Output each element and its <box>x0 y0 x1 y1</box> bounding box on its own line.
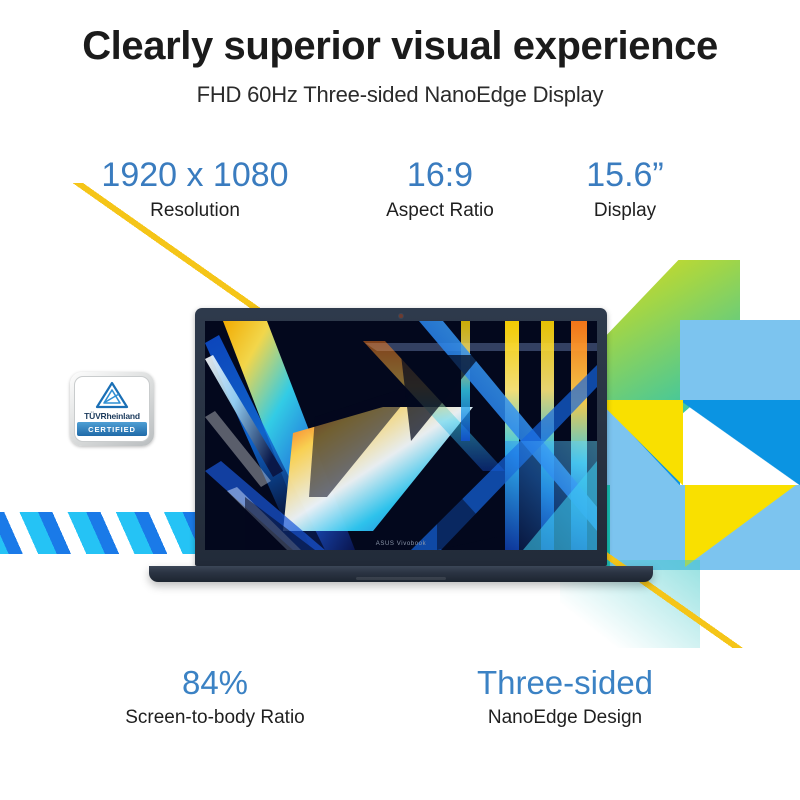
tuv-rheinland-certification-badge: TÜVRheinland CERTIFIED <box>70 372 154 446</box>
product-feature-banner: Clearly superior visual experience FHD 6… <box>0 0 800 800</box>
stat-screen-to-body: 84% Screen-to-body Ratio <box>90 666 340 729</box>
laptop-screen: ASUS Vivobook <box>205 321 597 550</box>
wallpaper-graphic <box>205 321 597 550</box>
cyan-stripes-decoration <box>0 512 220 554</box>
tuv-triangle-icon <box>95 381 129 414</box>
laptop-base <box>149 566 653 582</box>
stat-nanoedge-label: NanoEdge Design <box>440 707 690 729</box>
page-subtitle: FHD 60Hz Three-sided NanoEdge Display <box>0 82 800 108</box>
stat-nanoedge-value: Three-sided <box>440 666 690 701</box>
spec-display-size-value: 15.6” <box>560 158 690 194</box>
spec-aspect-ratio: 16:9 Aspect Ratio <box>353 158 528 222</box>
spec-display-size: 15.6” Display <box>560 158 690 222</box>
spec-display-size-label: Display <box>560 200 690 222</box>
badge-inner: TÜVRheinland CERTIFIED <box>74 376 150 442</box>
spec-aspect-ratio-label: Aspect Ratio <box>353 200 528 222</box>
badge-brand-name: TÜVRheinland <box>75 411 149 421</box>
laptop-product-image: ASUS Vivobook <box>195 308 607 582</box>
stat-screen-to-body-label: Screen-to-body Ratio <box>90 707 340 729</box>
spec-row: 1920 x 1080 Resolution 16:9 Aspect Ratio… <box>70 158 690 222</box>
stat-row: 84% Screen-to-body Ratio Three-sided Nan… <box>90 666 690 729</box>
base-notch <box>356 577 446 580</box>
badge-certified-banner: CERTIFIED <box>77 422 147 436</box>
stat-screen-to-body-value: 84% <box>90 666 340 701</box>
laptop-brand-label: ASUS Vivobook <box>205 541 597 547</box>
laptop-lid: ASUS Vivobook <box>195 308 607 566</box>
spec-resolution-label: Resolution <box>70 200 320 222</box>
spec-resolution: 1920 x 1080 Resolution <box>70 158 320 222</box>
page-title: Clearly superior visual experience <box>0 24 800 69</box>
spec-aspect-ratio-value: 16:9 <box>353 158 528 194</box>
webcam-icon <box>399 314 403 318</box>
spec-resolution-value: 1920 x 1080 <box>70 158 320 194</box>
stat-nanoedge: Three-sided NanoEdge Design <box>440 666 690 729</box>
